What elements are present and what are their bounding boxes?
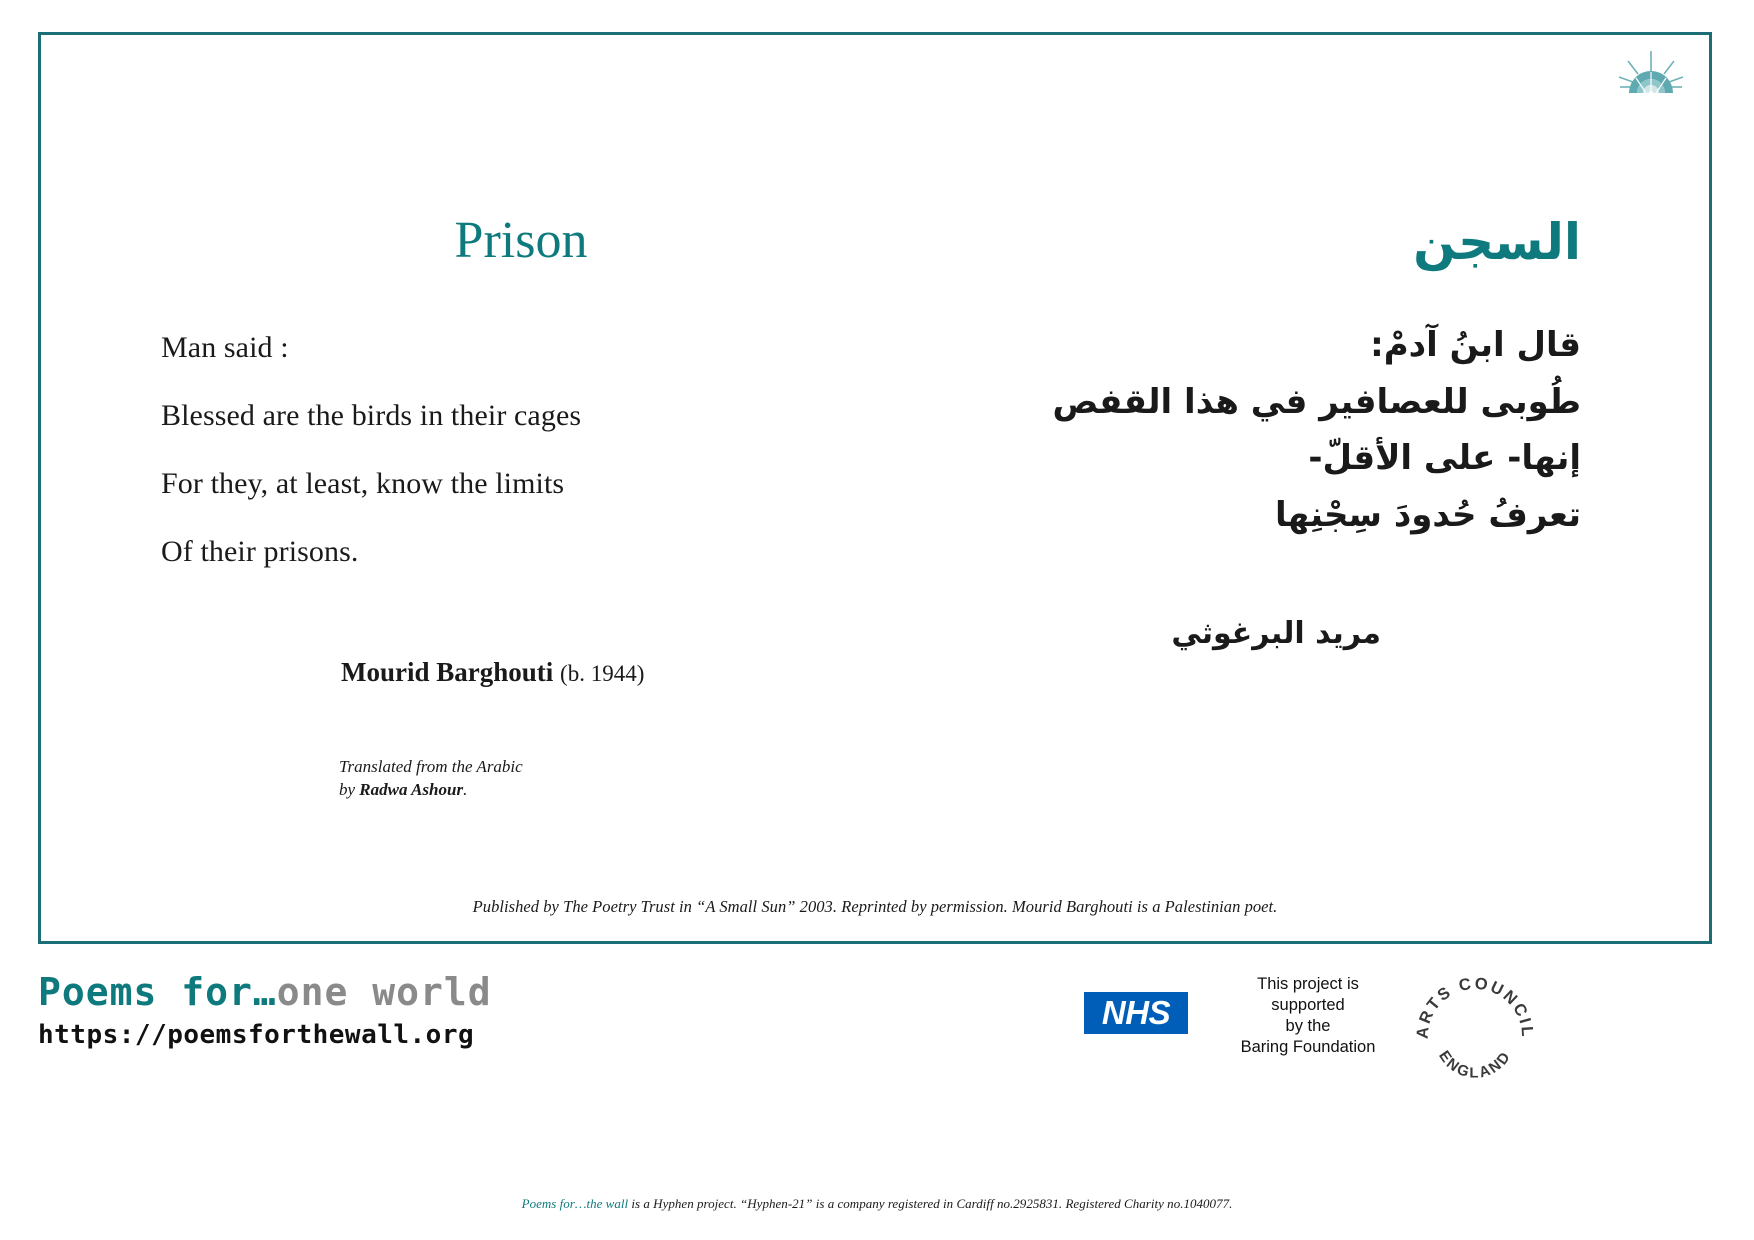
- arabic-poem-line: قال ابنُ آدمْ:: [941, 324, 1581, 367]
- english-poem-line: For they, at least, know the limits: [161, 469, 841, 499]
- arabic-poem-line: تعرفُ حُدودَ سِجْنِها: [941, 494, 1581, 537]
- arabic-poem-line: إنها- على الأقلّ-: [941, 437, 1581, 480]
- branding-strip: Poems for…one world https://poemsforthew…: [38, 962, 1712, 1202]
- translator-name: Radwa Ashour: [359, 780, 463, 799]
- translator-note-prefix: by: [339, 780, 359, 799]
- english-poem-line: Of their prisons.: [161, 537, 841, 567]
- english-author-credit: Mourid Barghouti (b. 1944): [161, 657, 841, 688]
- english-poem-title: Prison: [161, 215, 841, 267]
- arabic-poem-title: السجن: [941, 215, 1581, 270]
- svg-text:ARTS COUNCIL: ARTS COUNCIL: [1416, 975, 1534, 1040]
- author-name: Mourid Barghouti: [341, 657, 553, 687]
- legal-brand-name: Poems for…the wall: [522, 1196, 629, 1211]
- arabic-poem-line: طُوبى للعصافير في هذا القفص: [941, 381, 1581, 424]
- arabic-poem-column: السجن قال ابنُ آدمْ: طُوبى للعصافير في ه…: [941, 215, 1581, 651]
- nhs-logo: NHS: [1084, 992, 1188, 1034]
- publication-credit: Published by The Poetry Trust in “A Smal…: [41, 897, 1709, 917]
- translator-note: Translated from the Arabic by Radwa Asho…: [161, 756, 841, 802]
- author-dates: (b. 1944): [560, 661, 644, 686]
- baring-support-line: supported: [1213, 995, 1403, 1016]
- legal-text: is a Hyphen project. “Hyphen-21” is a co…: [628, 1196, 1232, 1211]
- translator-note-line-1: Translated from the Arabic: [339, 756, 841, 779]
- arts-council-england-logo: ARTS COUNCIL ENGLAND: [1416, 970, 1534, 1088]
- brand-url[interactable]: https://poemsforthewall.org: [38, 1020, 474, 1050]
- english-poem-column: Prison Man said : Blessed are the birds …: [161, 215, 841, 802]
- english-poem-line: Blessed are the birds in their cages: [161, 401, 841, 431]
- legal-registration-line: Poems for…the wall is a Hyphen project. …: [38, 1196, 1716, 1212]
- english-poem-line: Man said :: [161, 333, 841, 363]
- baring-foundation-support-text: This project is supported by the Baring …: [1213, 974, 1403, 1058]
- arts-council-bottom-text: ENGLAND: [1435, 1048, 1515, 1082]
- baring-support-line: Baring Foundation: [1213, 1037, 1403, 1058]
- poster-frame: Prison Man said : Blessed are the birds …: [38, 32, 1712, 944]
- baring-support-line: by the: [1213, 1016, 1403, 1037]
- baring-support-line: This project is: [1213, 974, 1403, 995]
- brand-wordmark: Poems for…one world: [38, 970, 492, 1014]
- svg-text:ENGLAND: ENGLAND: [1435, 1048, 1515, 1082]
- translator-note-line-2: by Radwa Ashour.: [339, 779, 841, 802]
- arabic-author-credit: مريد البرغوثي: [941, 616, 1581, 651]
- translator-note-suffix: .: [463, 780, 467, 799]
- arts-council-top-text: ARTS COUNCIL: [1416, 975, 1534, 1040]
- brand-wordmark-secondary: one world: [277, 970, 492, 1014]
- brand-wordmark-primary: Poems for…: [38, 970, 277, 1014]
